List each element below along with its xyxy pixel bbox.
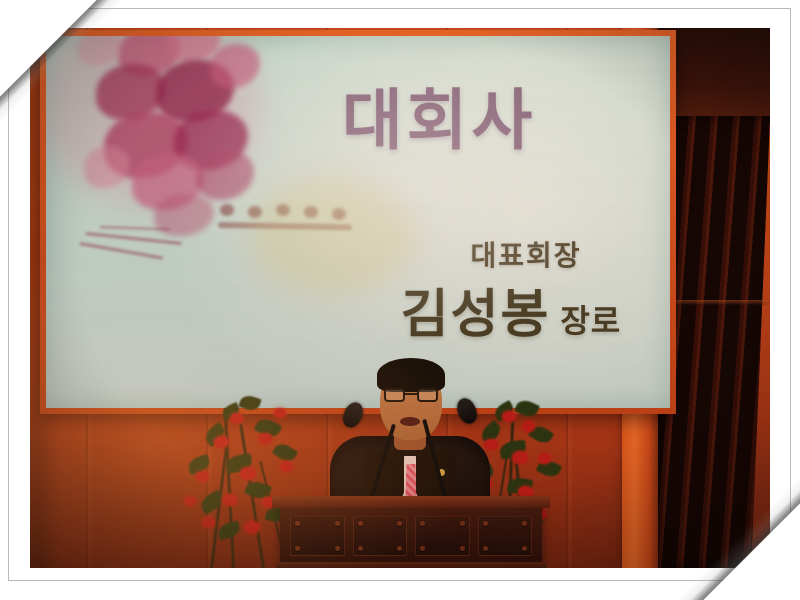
photograph: 대회사 대표회장 김성봉장로 — [30, 28, 770, 568]
framed-photo-plate: 대회사 대표회장 김성봉장로 — [0, 0, 800, 600]
room-lighting — [30, 28, 770, 568]
